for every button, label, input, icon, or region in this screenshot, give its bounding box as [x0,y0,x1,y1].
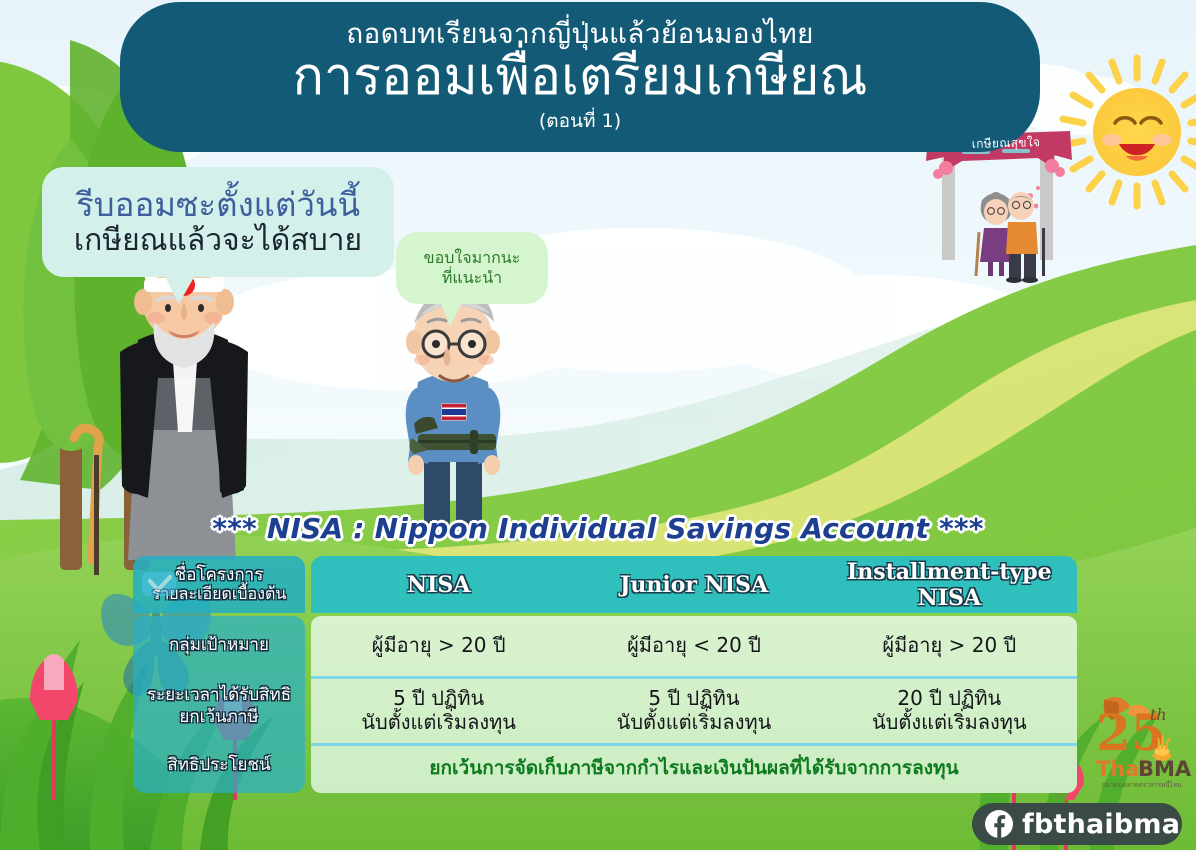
cell-period-installment-line2: นับตั้งแต่เริ่มลงทุน [822,711,1077,735]
speech-bubble-japan: รีบออมซะตั้งแต่วันนี้ เกษียณแล้วจะได้สบา… [42,167,394,277]
cell-period-installment-line1: 20 ปี ปฏิทิน [822,687,1077,711]
row-label-tax-period-line1: ระยะเวลาได้รับสิทธิ [133,686,305,705]
cell-period-junior: 5 ปี ปฏิทิน นับตั้งแต่เริ่มลงทุน [566,687,821,734]
cell-period-installment: 20 ปี ปฏิทิน นับตั้งแต่เริ่มลงทุน [822,687,1077,734]
cell-target-nisa: ผู้มีอายุ > 20 ปี [311,634,566,658]
table-row: ผู้มีอายุ > 20 ปี ผู้มีอายุ < 20 ปี ผู้ม… [311,616,1077,676]
table-body: ผู้มีอายุ > 20 ปี ผู้มีอายุ < 20 ปี ผู้ม… [311,616,1077,793]
infographic-canvas: ถอดบทเรียนจากญี่ปุ่นแล้วย้อนมองไทย การออ… [0,0,1196,850]
speech-japan-line2: เกษียณแล้วจะได้สบาย [74,224,362,258]
cell-period-nisa-line1: 5 ปี ปฏิทิน [311,687,566,711]
cell-target-installment: ผู้มีอายุ > 20 ปี [822,634,1077,658]
facebook-icon [984,809,1014,839]
title-eyebrow: ถอดบทเรียนจากญี่ปุ่นแล้วย้อนมองไทย [346,18,813,50]
table-corner-header: ชื่อโครงการ รายละเอียดเบื้องต้น [133,556,305,613]
nisa-comparison-table: ชื่อโครงการ รายละเอียดเบื้องต้น กลุ่มเป้… [133,556,1077,793]
cell-period-junior-line2: นับตั้งแต่เริ่มลงทุน [566,711,821,735]
cell-target-junior: ผู้มีอายุ < 20 ปี [566,634,821,658]
table-corner-line1: ชื่อโครงการ [175,566,264,585]
table-data-region: NISA Junior NISA Installment-type NISA ผ… [311,556,1077,793]
row-label-target-group: กลุ่มเป้าหมาย [133,636,305,655]
table-row-label-column: ชื่อโครงการ รายละเอียดเบื้องต้น กลุ่มเป้… [133,556,305,793]
speech-bubble-thai: ขอบใจมากนะ ที่แนะนำ [396,232,548,304]
cell-period-junior-line1: 5 ปี ปฏิทิน [566,687,821,711]
table-column-headers: NISA Junior NISA Installment-type NISA [311,556,1077,613]
title-part-label: (ตอนที่ 1) [539,106,621,136]
table-row: ยกเว้นการจัดเก็บภาษีจากกำไรและเงินปันผลท… [311,743,1077,790]
thaibma-logo-mark: 25 th Thai BMA สมาคมตลาดตราสารหนี้ไทย [1096,694,1192,794]
facebook-handle-label: fbthaibma [1022,809,1180,840]
column-header-nisa: NISA [311,572,566,598]
column-header-installment-nisa: Installment-type NISA [822,559,1077,611]
cell-period-nisa: 5 ปี ปฏิทิน นับตั้งแต่เริ่มลงทุน [311,687,566,734]
table-row-labels: กลุ่มเป้าหมาย ระยะเวลาได้รับสิทธิ ยกเว้น… [133,616,305,793]
nisa-headline: *** NISA : Nippon Individual Savings Acc… [0,512,1196,545]
speech-thai-line2: ที่แนะนำ [442,268,502,288]
logo-tagline: สมาคมตลาดตราสารหนี้ไทย [1102,780,1181,789]
row-label-tax-period-line2: ยกเว้นภาษี [133,708,305,727]
thaibma-25th-logo: 25 th Thai BMA สมาคมตลาดตราสารหนี้ไทย [1096,694,1192,794]
speech-thai-line1: ขอบใจมากนะ [424,248,521,268]
column-header-junior-nisa: Junior NISA [566,572,821,598]
title-panel: ถอดบทเรียนจากญี่ปุ่นแล้วย้อนมองไทย การออ… [120,2,1040,152]
facebook-handle-pill[interactable]: fbthaibma [972,803,1182,845]
logo-th-suffix: th [1150,705,1167,724]
page-title: การออมเพื่อเตรียมเกษียณ [292,48,867,106]
arch-banner-label: เกษียณสุขใจ [935,126,1078,160]
table-row: 5 ปี ปฏิทิน นับตั้งแต่เริ่มลงทุน 5 ปี ปฏ… [311,676,1077,743]
cell-benefits-span: ยกเว้นการจัดเก็บภาษีจากกำไรและเงินปันผลท… [311,753,1077,783]
speech-japan-line1: รีบออมซะตั้งแต่วันนี้ [76,187,360,224]
row-label-benefits: สิทธิประโยชน์ [133,756,305,775]
cell-period-nisa-line2: นับตั้งแต่เริ่มลงทุน [311,711,566,735]
arch-sign: เกษียณสุขใจ [935,128,1063,263]
logo-name-bma: BMA [1138,757,1192,781]
clipboard-check-icon [137,568,183,598]
